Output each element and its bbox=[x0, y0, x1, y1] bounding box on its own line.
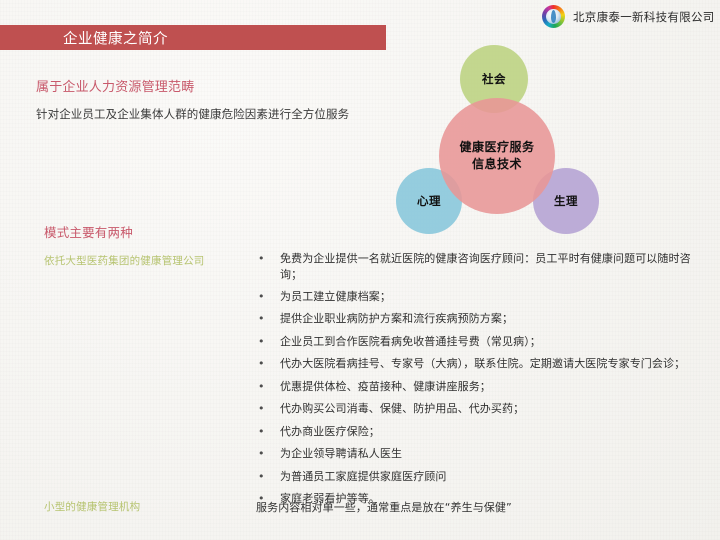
venn-label-social: 社会 bbox=[482, 72, 506, 87]
intro-heading: 属于企业人力资源管理范畴 bbox=[36, 76, 194, 95]
bullet-marker-icon: • bbox=[256, 401, 280, 417]
list-item: • 优惠提供体检、疫苗接种、健康讲座服务； bbox=[256, 379, 708, 395]
bullet-marker-icon: • bbox=[256, 251, 280, 267]
bullet-marker-icon: • bbox=[256, 469, 280, 485]
mode-2-description: 服务内容相对单一些，通常重点是放在“养生与保健” bbox=[256, 499, 512, 515]
list-item: • 提供企业职业病防护方案和流行疾病预防方案； bbox=[256, 311, 708, 327]
venn-label-core: 健康医疗服务 信息技术 bbox=[459, 139, 534, 173]
modes-section-heading: 模式主要有两种 bbox=[44, 222, 133, 241]
venn-label-physiological: 生理 bbox=[554, 194, 578, 209]
list-item: • 代办购买公司消毒、保健、防护用品、代办买药； bbox=[256, 401, 708, 417]
service-bullet-list: • 免费为企业提供一名就近医院的健康咨询医疗顾问：员工平时有健康问题可以随时咨询… bbox=[256, 251, 708, 514]
list-item-text: 提供企业职业病防护方案和流行疾病预防方案； bbox=[280, 311, 708, 327]
bullet-marker-icon: • bbox=[256, 424, 280, 440]
list-item: • 为普通员工家庭提供家庭医疗顾问 bbox=[256, 469, 708, 485]
list-item: • 代办商业医疗保险； bbox=[256, 424, 708, 440]
venn-label-core-line2: 信息技术 bbox=[472, 157, 522, 171]
bullet-marker-icon: • bbox=[256, 289, 280, 305]
list-item-text: 为企业领导聘请私人医生 bbox=[280, 446, 708, 462]
list-item: • 企业员工到合作医院看病免收普通挂号费（常见病）； bbox=[256, 334, 708, 350]
list-item-text: 企业员工到合作医院看病免收普通挂号费（常见病）； bbox=[280, 334, 708, 350]
list-item-text: 为员工建立健康档案； bbox=[280, 289, 708, 305]
rainbow-globe-logo-icon bbox=[542, 5, 565, 28]
bullet-marker-icon: • bbox=[256, 379, 280, 395]
list-item-text: 代办购买公司消毒、保健、防护用品、代办买药； bbox=[280, 401, 708, 417]
venn-circle-core: 健康医疗服务 信息技术 bbox=[439, 98, 555, 214]
list-item-text: 代办商业医疗保险； bbox=[280, 424, 708, 440]
list-item: • 免费为企业提供一名就近医院的健康咨询医疗顾问：员工平时有健康问题可以随时咨询… bbox=[256, 251, 708, 282]
bullet-marker-icon: • bbox=[256, 446, 280, 462]
venn-label-psychological: 心理 bbox=[417, 194, 441, 209]
bullet-marker-icon: • bbox=[256, 356, 280, 372]
brand-header: 北京康泰一新科技有限公司 bbox=[542, 5, 715, 28]
bullet-marker-icon: • bbox=[256, 311, 280, 327]
slide-title-bar: 企业健康之简介 bbox=[0, 25, 386, 50]
page-title: 企业健康之简介 bbox=[63, 27, 168, 48]
venn-diagram: 社会 心理 生理 健康医疗服务 信息技术 bbox=[390, 40, 630, 240]
list-item: • 为员工建立健康档案； bbox=[256, 289, 708, 305]
list-item-text: 优惠提供体检、疫苗接种、健康讲座服务； bbox=[280, 379, 708, 395]
list-item: • 代办大医院看病挂号、专家号（大病），联系住院。定期邀请大医院专家专门会诊； bbox=[256, 356, 708, 372]
mode-label-small-agency: 小型的健康管理机构 bbox=[44, 499, 140, 514]
list-item-text: 为普通员工家庭提供家庭医疗顾问 bbox=[280, 469, 708, 485]
venn-label-core-line1: 健康医疗服务 bbox=[459, 140, 534, 154]
mode-label-large-pharma: 依托大型医药集团的健康管理公司 bbox=[44, 253, 205, 268]
list-item: • 为企业领导聘请私人医生 bbox=[256, 446, 708, 462]
list-item-text: 代办大医院看病挂号、专家号（大病），联系住院。定期邀请大医院专家专门会诊； bbox=[280, 356, 708, 372]
bullet-marker-icon: • bbox=[256, 334, 280, 350]
company-name: 北京康泰一新科技有限公司 bbox=[573, 9, 715, 25]
intro-subtext: 针对企业员工及企业集体人群的健康危险因素进行全方位服务 bbox=[36, 106, 349, 122]
list-item-text: 免费为企业提供一名就近医院的健康咨询医疗顾问：员工平时有健康问题可以随时咨询； bbox=[280, 251, 708, 282]
slide-canvas: 北京康泰一新科技有限公司 企业健康之简介 属于企业人力资源管理范畴 针对企业员工… bbox=[0, 0, 720, 540]
